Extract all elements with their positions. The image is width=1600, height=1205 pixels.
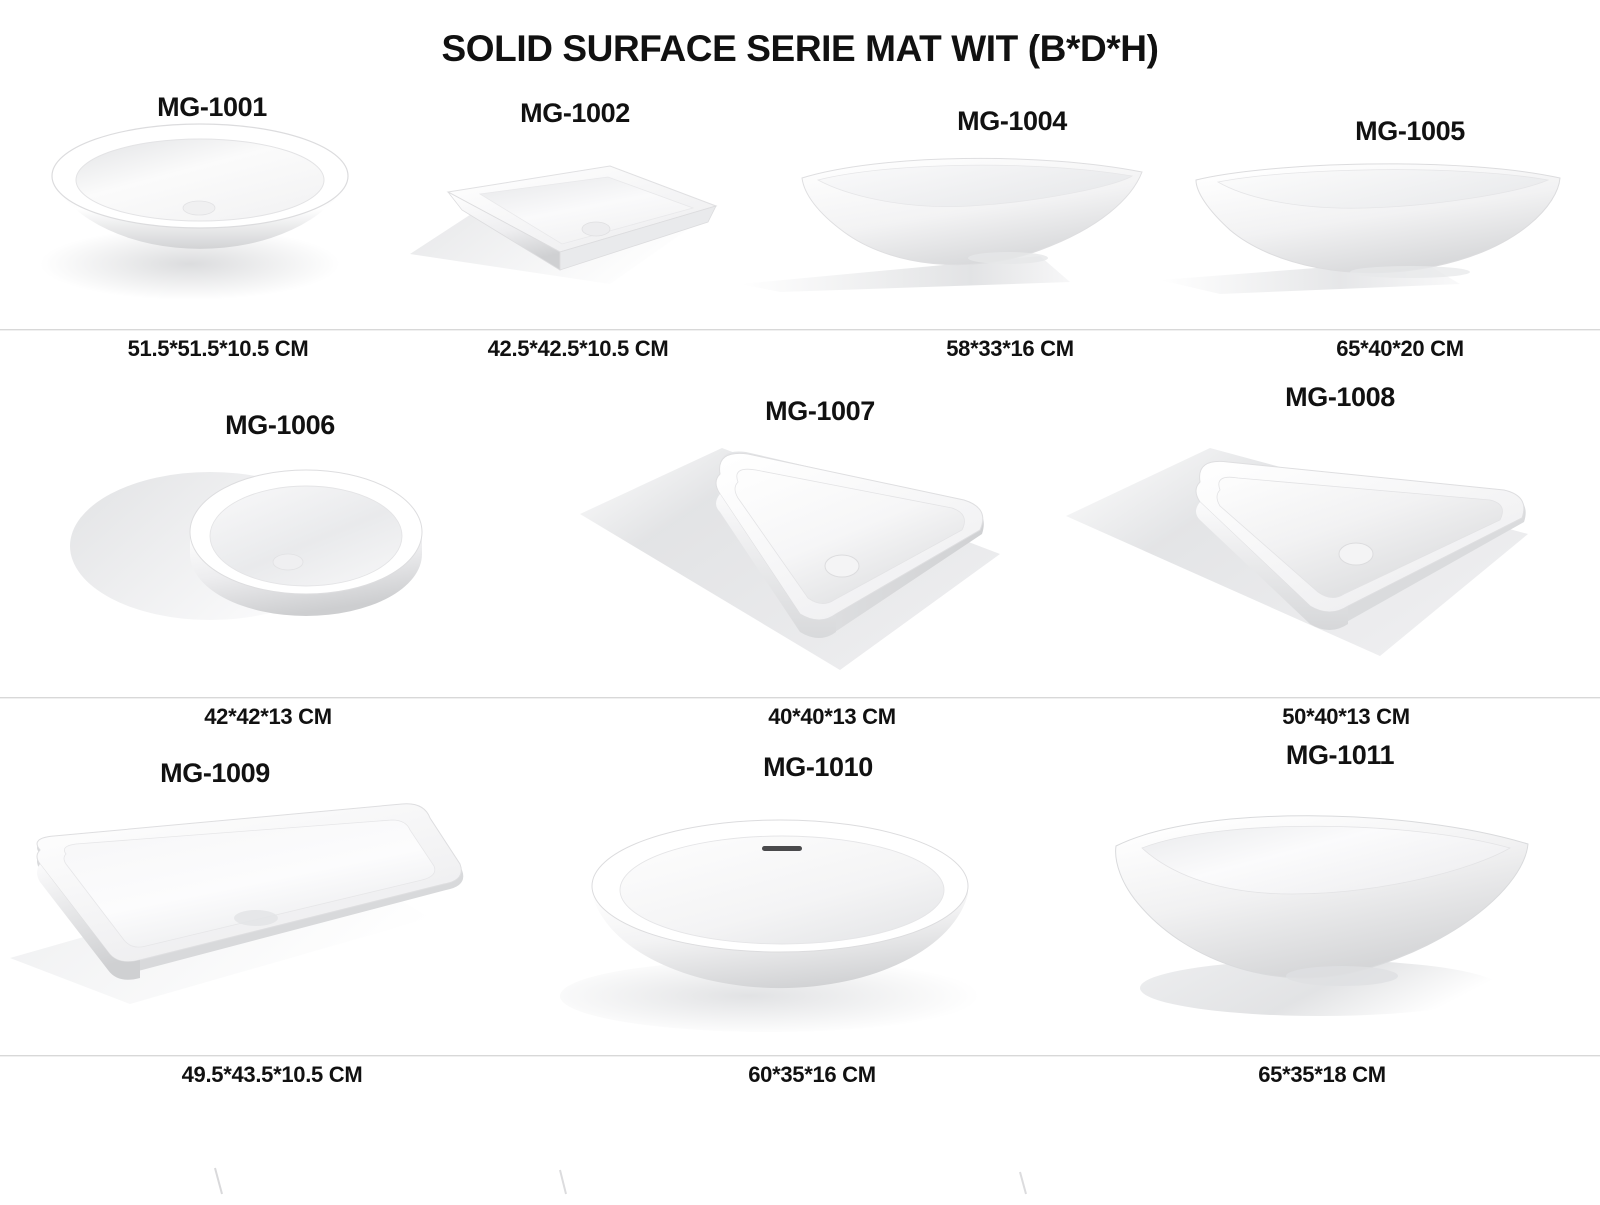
- caption-row-1: 51.5*51.5*10.5 CM 42.5*42.5*10.5 CM 58*3…: [0, 330, 1600, 372]
- product-row-2: MG-1006: [0, 372, 1600, 740]
- product-dimensions: 40*40*13 CM: [768, 704, 896, 730]
- product-card-mg-1007[interactable]: MG-1007: [540, 372, 1040, 697]
- product-image-round-bowl-basin: [40, 114, 380, 314]
- product-row-1-items: MG-1001: [0, 74, 1600, 329]
- product-image-oval-egg-basin: [550, 790, 1030, 1040]
- product-card-mg-1006[interactable]: MG-1006: [40, 372, 520, 697]
- bottom-edge-marks: [0, 1160, 1600, 1200]
- product-card-mg-1009[interactable]: MG-1009: [10, 740, 530, 1055]
- product-dimensions: 50*40*13 CM: [1282, 704, 1410, 730]
- product-dimensions: 42.5*42.5*10.5 CM: [488, 336, 669, 362]
- product-image-oval-deep-basin: [1160, 144, 1580, 314]
- product-row-3: MG-1009: [0, 740, 1600, 1098]
- product-image-rectangular-vessel-basin: [1050, 430, 1570, 680]
- product-label: MG-1009: [160, 758, 270, 789]
- product-card-mg-1001[interactable]: MG-1001: [30, 74, 390, 329]
- product-image-square-vessel-basin: [570, 434, 1040, 684]
- product-dimensions: 58*33*16 CM: [946, 336, 1074, 362]
- product-label: MG-1008: [1285, 382, 1395, 413]
- product-dimensions: 49.5*43.5*10.5 CM: [182, 1062, 363, 1088]
- product-row-1: MG-1001: [0, 74, 1600, 372]
- product-label: MG-1005: [1355, 116, 1465, 147]
- product-row-3-items: MG-1009: [0, 740, 1600, 1055]
- product-image-rectangular-flat-basin: [10, 798, 520, 1038]
- product-dimensions: 65*40*20 CM: [1336, 336, 1464, 362]
- product-dimensions: 51.5*51.5*10.5 CM: [128, 336, 309, 362]
- product-label: MG-1007: [765, 396, 875, 427]
- product-card-mg-1010[interactable]: MG-1010: [540, 740, 1040, 1055]
- product-image-oval-tilted-basin: [1080, 782, 1580, 1032]
- product-dimensions: 65*35*18 CM: [1258, 1062, 1386, 1088]
- product-label: MG-1011: [1286, 740, 1394, 771]
- product-image-boat-leaf-basin: [740, 136, 1160, 316]
- product-row-2-items: MG-1006: [0, 372, 1600, 697]
- product-label: MG-1006: [225, 410, 335, 441]
- product-card-mg-1005[interactable]: MG-1005: [1160, 74, 1580, 329]
- product-card-mg-1008[interactable]: MG-1008: [1040, 372, 1580, 697]
- product-card-mg-1004[interactable]: MG-1004: [740, 74, 1160, 329]
- product-label: MG-1004: [957, 106, 1067, 137]
- product-card-mg-1002[interactable]: MG-1002: [400, 74, 750, 329]
- product-card-mg-1011[interactable]: MG-1011: [1050, 740, 1590, 1055]
- product-label: MG-1010: [763, 752, 873, 783]
- caption-row-3: 49.5*43.5*10.5 CM 60*35*16 CM 65*35*18 C…: [0, 1056, 1600, 1098]
- page-title: SOLID SURFACE SERIE MAT WIT (B*D*H): [0, 0, 1600, 74]
- caption-row-2: 42*42*13 CM 40*40*13 CM 50*40*13 CM: [0, 698, 1600, 740]
- product-image-square-shallow-basin: [410, 134, 740, 314]
- product-dimensions: 60*35*16 CM: [748, 1062, 876, 1088]
- product-label: MG-1002: [520, 98, 630, 129]
- product-dimensions: 42*42*13 CM: [204, 704, 332, 730]
- product-image-round-cylinder-basin: [60, 450, 500, 680]
